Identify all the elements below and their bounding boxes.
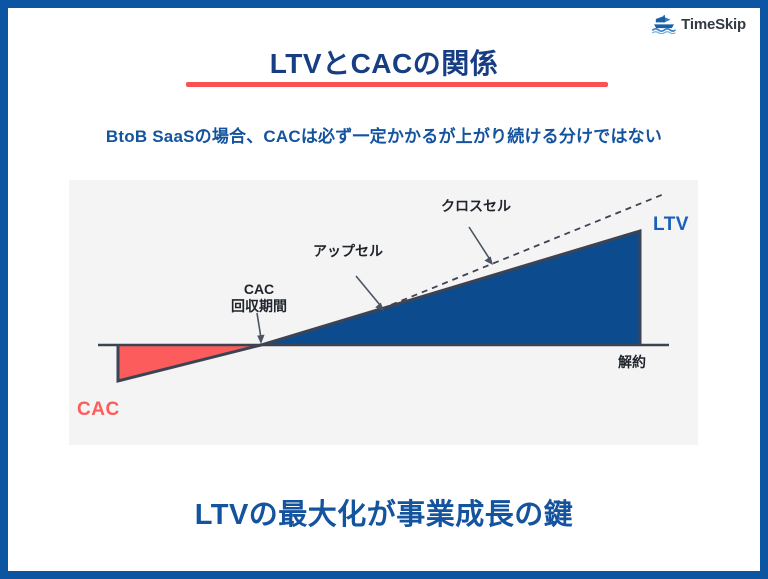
logo-text: TimeSkip: [681, 16, 746, 33]
upsell-label: アップセル: [313, 243, 383, 260]
upsell-arrow: [356, 276, 384, 311]
subtitle: BtoB SaaSの場合、CACは必ず一定かかるが上がり続ける分けではない: [8, 122, 760, 147]
cac-payback-arrow: [257, 313, 265, 344]
ltv-cac-chart: CAC LTV 解約 CAC 回収期間 アップセル クロスセル: [69, 180, 698, 445]
crosssell-arrow: [469, 227, 493, 265]
page-title: LTVとCACの関係: [8, 42, 760, 82]
cac-payback-label-line2: 回収期間: [231, 298, 287, 314]
boat-wave-icon: [652, 14, 676, 34]
churn-label: 解約: [618, 354, 646, 371]
cac-payback-label: CAC 回収期間: [216, 281, 302, 315]
chart-graphic: [69, 180, 698, 445]
brand-logo: TimeSkip: [652, 14, 746, 34]
slide-inner: TimeSkip LTVとCACの関係 BtoB SaaSの場合、CACは必ず一…: [8, 8, 760, 571]
cac-axis-label: CAC: [77, 398, 120, 421]
ltv-axis-label: LTV: [653, 213, 689, 236]
crosssell-label: クロスセル: [441, 198, 511, 215]
slide: TimeSkip LTVとCACの関係 BtoB SaaSの場合、CACは必ず一…: [0, 0, 768, 579]
cac-payback-label-line1: CAC: [244, 281, 274, 297]
title-underline-rule: [186, 82, 608, 87]
footer-message: LTVの最大化が事業成長の鍵: [8, 491, 760, 533]
